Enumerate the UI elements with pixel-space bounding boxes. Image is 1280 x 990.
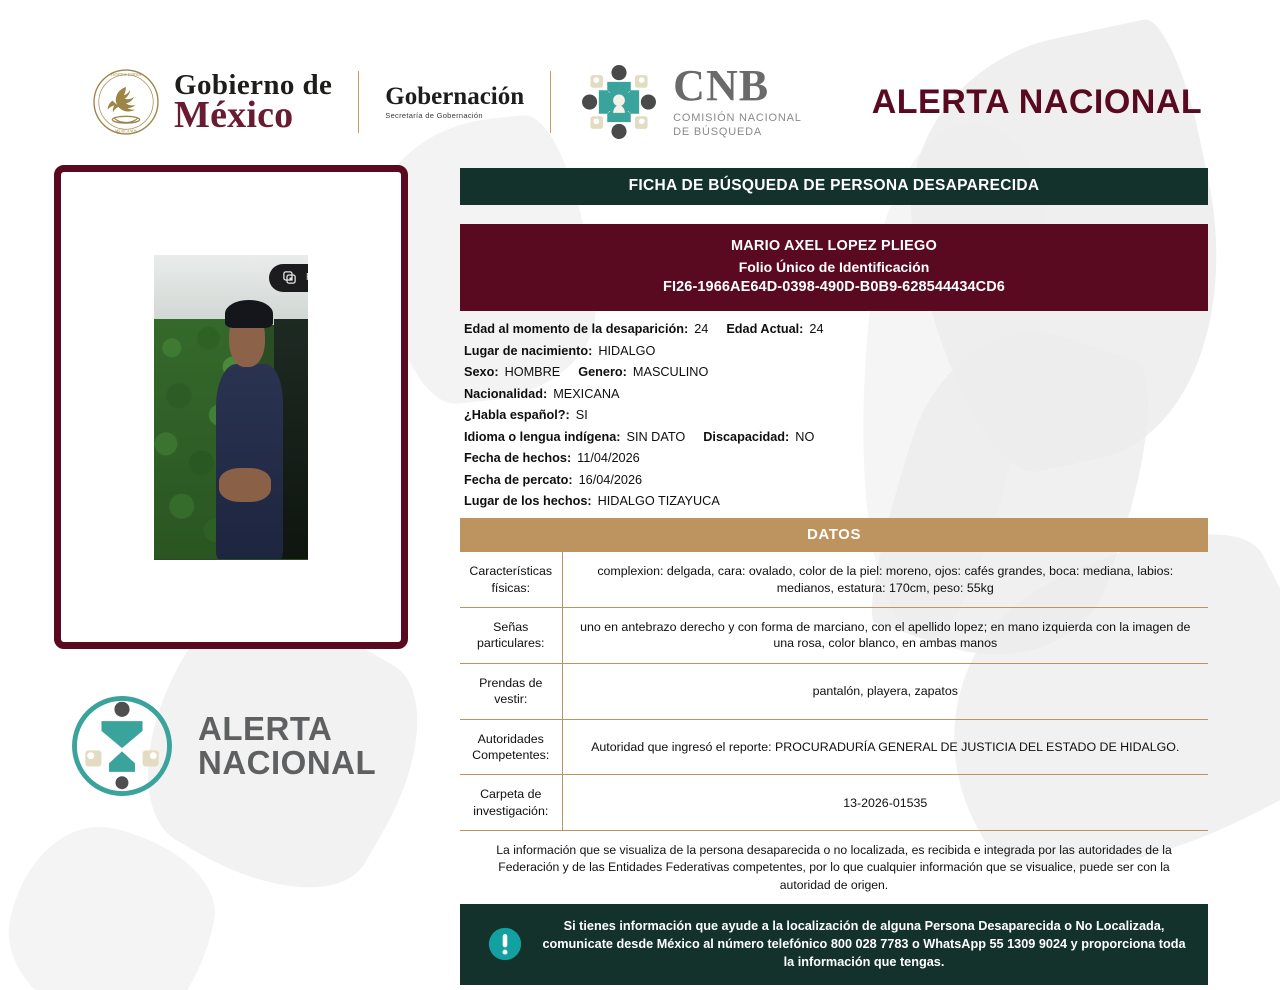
- field-lugar-hechos-value: HIDALGO TIZAYUCA: [598, 494, 720, 508]
- svg-text:ESTADOS UNIDOS: ESTADOS UNIDOS: [111, 73, 142, 77]
- field-discapacidad-label: Discapacidad:: [703, 430, 789, 444]
- contact-message: Si tienes información que ayude a la loc…: [542, 917, 1186, 971]
- field-lugar-nacimiento: Lugar de nacimiento:HIDALGO: [464, 344, 1208, 358]
- field-fecha-percato-value: 16/04/2026: [579, 473, 643, 487]
- field-edad-desaparicion-value: 24: [694, 322, 708, 336]
- field-habla-espanol-label: ¿Habla español?:: [464, 408, 570, 422]
- field-lugar-hechos-label: Lugar de los hechos:: [464, 494, 592, 508]
- field-habla-espanol: ¿Habla español?:SI: [464, 408, 1208, 422]
- sheet-body: FICHA DE BÚSQUEDA DE PERSONA DESAPARECID…: [460, 168, 1208, 985]
- field-sexo-label: Sexo:: [464, 365, 499, 379]
- datos-value: complexion: delgada, cara: ovalado, colo…: [562, 552, 1208, 607]
- alerta-nacional-sheet: ESTADOS UNIDOS MEXICANOS Gobierno de Méx…: [0, 0, 1280, 990]
- datos-value: Autoridad que ingresó el reporte: PROCUR…: [562, 719, 1208, 775]
- page-header: ESTADOS UNIDOS MEXICANOS Gobierno de Méx…: [0, 58, 1280, 146]
- datos-value: 13-2026-01535: [562, 775, 1208, 831]
- field-edad: Edad al momento de la desaparición:24Eda…: [464, 322, 1208, 336]
- gobierno-line-2: México: [174, 96, 332, 134]
- field-fecha-hechos: Fecha de hechos:11/04/2026: [464, 451, 1208, 465]
- segob-logo: Gobernación Secretaría de Gobernación: [385, 84, 524, 120]
- field-edad-actual-label: Edad Actual:: [726, 322, 803, 336]
- field-fecha-hechos-label: Fecha de hechos:: [464, 451, 571, 465]
- segob-subtitle: Secretaría de Gobernación: [385, 112, 524, 120]
- foto-overlay-pill[interactable]: Foto: [269, 264, 308, 292]
- table-row: Carpeta de investigación: 13-2026-01535: [460, 775, 1208, 831]
- cnb-name-line-1: COMISIÓN NACIONAL: [673, 112, 802, 126]
- svg-text:MEXICANOS: MEXICANOS: [115, 130, 137, 134]
- field-nacionalidad-value: MEXICANA: [553, 387, 619, 401]
- field-habla-espanol-value: SI: [576, 408, 588, 422]
- badge-line-2: NACIONAL: [198, 746, 376, 780]
- folio-label: Folio Único de Identificación: [466, 257, 1202, 277]
- folio-value: FI26-1966AE64D-0398-490D-B0B9-628544434C…: [466, 277, 1202, 298]
- field-fecha-percato-label: Fecha de percato:: [464, 473, 573, 487]
- person-fields: Edad al momento de la desaparición:24Eda…: [460, 311, 1208, 508]
- foto-overlay-label: Foto: [306, 272, 308, 283]
- cnb-mandala-icon: [577, 60, 661, 144]
- field-genero-label: Genero:: [578, 365, 627, 379]
- alerta-nacional-emblem-icon: [68, 692, 176, 800]
- photo-frame: Foto: [54, 165, 408, 649]
- cnb-logo: CNB COMISIÓN NACIONAL DE BÚSQUEDA: [577, 60, 802, 144]
- sheet-band-title: FICHA DE BÚSQUEDA DE PERSONA DESAPARECID…: [460, 168, 1208, 205]
- datos-value: uno en antebrazo derecho y con forma de …: [562, 608, 1208, 664]
- table-row: Autoridades Competentes: Autoridad que i…: [460, 719, 1208, 775]
- field-edad-desaparicion-label: Edad al momento de la desaparición:: [464, 322, 688, 336]
- segob-title: Gobernación: [385, 84, 524, 110]
- screenshot-copy-icon: [282, 270, 297, 285]
- cnb-acronym: CNB: [673, 64, 802, 108]
- person-identity-block: MARIO AXEL LOPEZ PLIEGO Folio Único de I…: [460, 224, 1208, 311]
- field-idioma-value: SIN DATO: [627, 430, 686, 444]
- person-name: MARIO AXEL LOPEZ PLIEGO: [466, 236, 1202, 257]
- alerta-nacional-badge: ALERTA NACIONAL: [68, 692, 376, 800]
- datos-table: Características físicas: complexion: del…: [460, 552, 1208, 831]
- header-divider-2: [550, 71, 551, 133]
- field-fecha-hechos-value: 11/04/2026: [577, 451, 640, 465]
- field-lugar-nacimiento-value: HIDALGO: [598, 344, 655, 358]
- missing-person-photo: Foto: [154, 255, 308, 560]
- field-lugar-hechos: Lugar de los hechos:HIDALGO TIZAYUCA: [464, 494, 1208, 508]
- field-nacionalidad: Nacionalidad:MEXICANA: [464, 387, 1208, 401]
- table-row: Señas particulares: uno en antebrazo der…: [460, 608, 1208, 664]
- field-lugar-nacimiento-label: Lugar de nacimiento:: [464, 344, 592, 358]
- exclamation-icon: [486, 925, 524, 963]
- field-idioma-label: Idioma o lengua indígena:: [464, 430, 621, 444]
- contact-banner: Si tienes información que ayude a la loc…: [460, 904, 1208, 985]
- field-genero-value: MASCULINO: [633, 365, 708, 379]
- header-divider-1: [358, 71, 359, 133]
- table-row: Características físicas: complexion: del…: [460, 552, 1208, 607]
- mexican-coat-of-arms-icon: ESTADOS UNIDOS MEXICANOS: [92, 68, 160, 136]
- badge-line-1: ALERTA: [198, 712, 376, 746]
- disclaimer-text: La información que se visualiza de la pe…: [460, 831, 1208, 904]
- gobierno-de-mexico-logo: ESTADOS UNIDOS MEXICANOS Gobierno de Méx…: [92, 68, 332, 136]
- datos-key: Autoridades Competentes:: [460, 719, 562, 775]
- field-fecha-percato: Fecha de percato:16/04/2026: [464, 473, 1208, 487]
- field-edad-actual-value: 24: [809, 322, 823, 336]
- field-sexo-genero: Sexo:HOMBREGenero:MASCULINO: [464, 365, 1208, 379]
- field-idioma-discapacidad: Idioma o lengua indígena:SIN DATODiscapa…: [464, 430, 1208, 444]
- alerta-nacional-title: ALERTA NACIONAL: [872, 83, 1202, 122]
- datos-section-header: DATOS: [460, 518, 1208, 552]
- datos-key: Características físicas:: [460, 552, 562, 607]
- field-sexo-value: HOMBRE: [505, 365, 561, 379]
- datos-key: Prendas de vestir:: [460, 663, 562, 719]
- cnb-name-line-2: DE BÚSQUEDA: [673, 126, 802, 140]
- datos-key: Carpeta de investigación:: [460, 775, 562, 831]
- field-discapacidad-value: NO: [795, 430, 814, 444]
- table-row: Prendas de vestir: pantalón, playera, za…: [460, 663, 1208, 719]
- datos-value: pantalón, playera, zapatos: [562, 663, 1208, 719]
- field-nacionalidad-label: Nacionalidad:: [464, 387, 547, 401]
- datos-key: Señas particulares:: [460, 608, 562, 664]
